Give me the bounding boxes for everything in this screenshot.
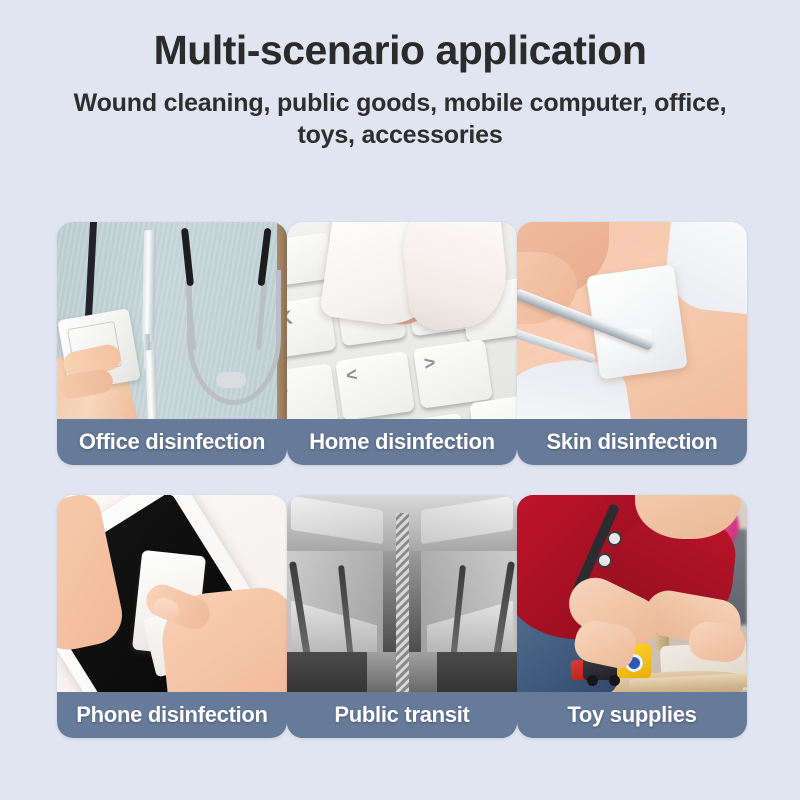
header: Multi-scenario application Wound cleanin… bbox=[0, 0, 800, 151]
stethoscope-icon bbox=[181, 230, 277, 410]
scenario-card-phone-disinfection[interactable]: Phone disinfection bbox=[57, 495, 287, 738]
forceps-arm bbox=[517, 325, 596, 363]
scenario-card-toy-supplies[interactable]: Toy supplies bbox=[517, 495, 747, 738]
page-title: Multi-scenario application bbox=[0, 28, 800, 73]
scenario-card-public-transit[interactable]: Public transit bbox=[287, 495, 517, 738]
keyboard-key-period: > bbox=[413, 339, 493, 408]
card-caption: Home disinfection bbox=[287, 419, 517, 465]
page-subtitle: Wound cleaning, public goods, mobile com… bbox=[60, 87, 740, 151]
scenario-card-home-disinfection[interactable]: K M < > Home disinfection bbox=[287, 222, 517, 465]
scenario-card-grid: Office disinfection K M < > Home bbox=[57, 222, 745, 738]
infographic-page: Multi-scenario application Wound cleanin… bbox=[0, 0, 800, 800]
card-caption: Skin disinfection bbox=[517, 419, 747, 465]
stethoscope-bead bbox=[216, 372, 246, 388]
keyboard-key-comma: < bbox=[335, 351, 415, 420]
shirt-snap bbox=[609, 533, 620, 544]
card-caption: Office disinfection bbox=[57, 419, 287, 465]
center-pole bbox=[396, 513, 409, 699]
tweezers-icon bbox=[142, 230, 156, 342]
card-caption: Toy supplies bbox=[517, 692, 747, 738]
scenario-card-office-disinfection[interactable]: Office disinfection bbox=[57, 222, 287, 465]
card-caption: Public transit bbox=[287, 692, 517, 738]
toy-train-wheel bbox=[587, 675, 598, 686]
stethoscope-eartip-left bbox=[181, 228, 194, 286]
card-caption: Phone disinfection bbox=[57, 692, 287, 738]
shirt-snap bbox=[599, 555, 610, 566]
scenario-card-skin-disinfection[interactable]: Skin disinfection bbox=[517, 222, 747, 465]
